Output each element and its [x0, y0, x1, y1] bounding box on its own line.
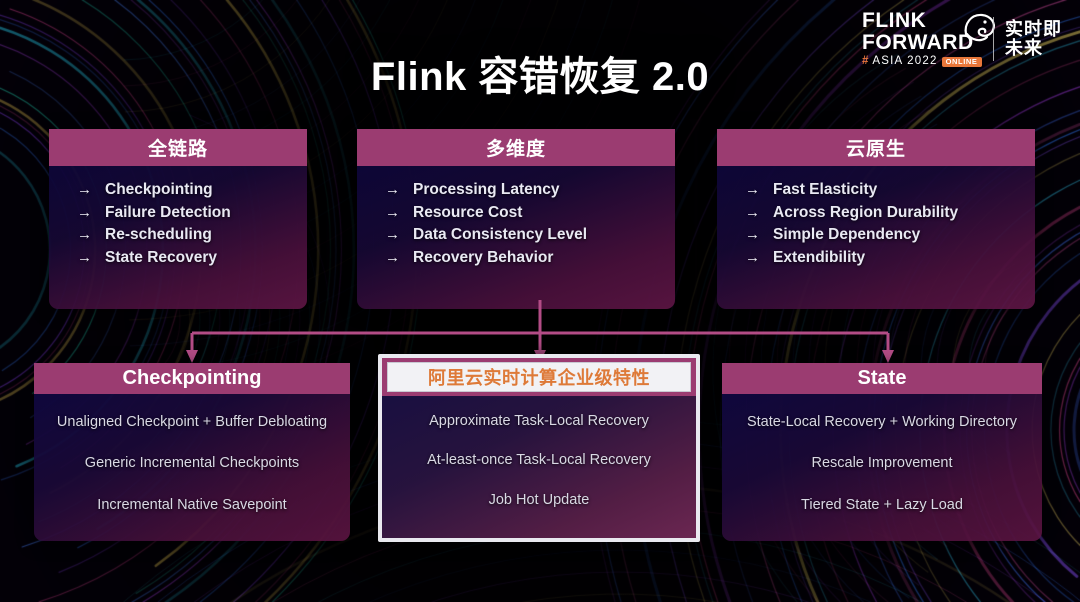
bottom-card-title: 阿里云实时计算企业级特性 — [428, 364, 650, 390]
list-item: Rescale Improvement — [732, 443, 1032, 484]
list-item-label: Processing Latency — [413, 179, 559, 201]
top-card-multi-dimension: 多维度 → Processing Latency → Resource Cost… — [357, 129, 675, 309]
bottom-card-body: Approximate Task-Local Recovery At-least… — [382, 396, 696, 520]
logo-slogan-line-1: 实时即 — [1005, 20, 1062, 39]
bottom-card-alibaba-cloud-enterprise-features: 阿里云实时计算企业级特性 Approximate Task-Local Reco… — [378, 354, 700, 542]
arrow-icon: → — [745, 202, 760, 224]
arrow-head-right — [882, 350, 894, 363]
hash-symbol: # — [862, 56, 868, 68]
list-item: → Simple Dependency — [745, 224, 1035, 246]
arrow-head-left — [186, 350, 198, 363]
logo-forward-text: FORWARD — [862, 32, 974, 53]
bottom-card-header-bar: 阿里云实时计算企业级特性 — [382, 358, 696, 396]
logo-wordmark: FLINK FORWARD # ASIA 2022 ONLINE — [862, 10, 982, 68]
list-item: → Failure Detection — [77, 202, 307, 224]
list-item-label: State Recovery — [105, 247, 217, 269]
bullet-list: → Fast Elasticity → Across Region Durabi… — [717, 179, 1035, 268]
highlighted-card-inner: 阿里云实时计算企业级特性 Approximate Task-Local Reco… — [382, 358, 696, 538]
bottom-card-body: Unaligned Checkpoint + Buffer Debloating… — [34, 394, 350, 526]
list-item-label: Data Consistency Level — [413, 224, 587, 246]
list-item: Unaligned Checkpoint + Buffer Debloating — [44, 402, 340, 443]
arrow-icon: → — [77, 202, 92, 224]
flink-forward-logo: FLINK FORWARD # ASIA 2022 ONLINE 实时即 未来 — [862, 8, 1062, 70]
list-item: Approximate Task-Local Recovery — [392, 402, 686, 441]
list-item-label: Failure Detection — [105, 202, 231, 224]
list-item-label: Fast Elasticity — [773, 179, 877, 201]
list-item-label: Recovery Behavior — [413, 247, 553, 269]
arrow-icon: → — [385, 224, 400, 246]
arrow-icon: → — [77, 179, 92, 201]
top-card-body: → Fast Elasticity → Across Region Durabi… — [717, 166, 1035, 268]
bottom-card-body: State-Local Recovery + Working Directory… — [722, 394, 1042, 526]
top-card-title: 云原生 — [717, 129, 1035, 166]
list-item: → Across Region Durability — [745, 202, 1035, 224]
arrow-icon: → — [385, 179, 400, 201]
logo-flink-text: FLINK — [862, 10, 926, 31]
arrow-icon: → — [745, 224, 760, 246]
top-card-body: → Checkpointing → Failure Detection → Re… — [49, 166, 307, 268]
arrow-icon: → — [77, 224, 92, 246]
list-item: State-Local Recovery + Working Directory — [732, 402, 1032, 443]
online-badge: ONLINE — [942, 57, 982, 68]
bottom-card-checkpointing: Checkpointing Unaligned Checkpoint + Buf… — [34, 363, 350, 541]
bottom-card-state: State State-Local Recovery + Working Dir… — [722, 363, 1042, 541]
top-card-full-link: 全链路 → Checkpointing → Failure Detection … — [49, 129, 307, 309]
list-item: → Checkpointing — [77, 179, 307, 201]
top-card-title: 多维度 — [357, 129, 675, 166]
list-item-label: Simple Dependency — [773, 224, 920, 246]
logo-slogan-line-2: 未来 — [1005, 39, 1062, 58]
list-item: At-least-once Task-Local Recovery — [392, 441, 686, 480]
top-card-title: 全链路 — [49, 129, 307, 166]
top-card-cloud-native: 云原生 → Fast Elasticity → Across Region Du… — [717, 129, 1035, 309]
logo-event-name: ASIA 2022 — [872, 56, 937, 68]
slide-content: Flink 容错恢复 2.0 FLINK FORWARD # ASIA 2022… — [0, 0, 1080, 602]
bottom-card-title: Checkpointing — [34, 363, 350, 394]
list-item: → Recovery Behavior — [385, 247, 675, 269]
logo-chinese-slogan: 实时即 未来 — [1005, 20, 1062, 58]
list-item: → Extendibility — [745, 247, 1035, 269]
list-item: → Re-scheduling — [77, 224, 307, 246]
bottom-card-title: State — [722, 363, 1042, 394]
logo-event-line: # ASIA 2022 ONLINE — [862, 56, 982, 68]
top-card-body: → Processing Latency → Resource Cost → D… — [357, 166, 675, 268]
list-item-label: Checkpointing — [105, 179, 213, 201]
list-item: → State Recovery — [77, 247, 307, 269]
list-item: → Fast Elasticity — [745, 179, 1035, 201]
list-item: Tiered State + Lazy Load — [732, 485, 1032, 526]
logo-divider — [993, 17, 995, 61]
arrow-icon: → — [385, 202, 400, 224]
list-item: Incremental Native Savepoint — [44, 485, 340, 526]
bullet-list: → Processing Latency → Resource Cost → D… — [357, 179, 675, 268]
list-item-label: Across Region Durability — [773, 202, 958, 224]
list-item: → Data Consistency Level — [385, 224, 675, 246]
list-item-label: Resource Cost — [413, 202, 522, 224]
list-item-label: Extendibility — [773, 247, 865, 269]
list-item: Generic Incremental Checkpoints — [44, 443, 340, 484]
list-item: → Processing Latency — [385, 179, 675, 201]
arrow-icon: → — [745, 179, 760, 201]
arrow-icon: → — [745, 247, 760, 269]
list-item: Job Hot Update — [392, 481, 686, 520]
arrow-icon: → — [385, 247, 400, 269]
bullet-list: → Checkpointing → Failure Detection → Re… — [49, 179, 307, 268]
list-item-label: Re-scheduling — [105, 224, 212, 246]
arrow-icon: → — [77, 247, 92, 269]
highlighted-title-box: 阿里云实时计算企业级特性 — [387, 362, 691, 392]
list-item: → Resource Cost — [385, 202, 675, 224]
